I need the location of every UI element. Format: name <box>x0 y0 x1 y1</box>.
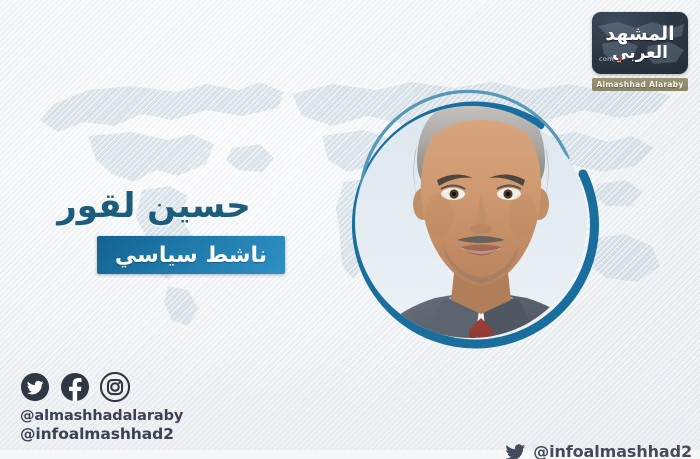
channel-logo[interactable]: المشهد العربي com Almashhad Alaraby <box>592 12 688 91</box>
logo-line-1: المشهد <box>605 25 674 44</box>
facebook-icon[interactable] <box>60 372 90 402</box>
logo-caption: Almashhad Alaraby <box>592 78 688 91</box>
social-handle-primary[interactable]: @almashhadalaraby <box>20 407 183 426</box>
person-name: حسين لقور <box>0 186 700 226</box>
social-icons <box>20 372 183 402</box>
logo-red-dot-icon <box>618 57 622 61</box>
logo-box: المشهد العربي com <box>592 12 688 74</box>
person-role-badge: ناشط سياسي <box>97 236 285 274</box>
promo-card: المشهد العربي com Almashhad Alaraby <box>0 0 700 459</box>
social-handle-secondary[interactable]: @infoalmashhad2 <box>20 425 183 445</box>
logo-com-text: com <box>599 55 614 63</box>
instagram-icon[interactable] <box>100 372 130 402</box>
twitter-icon-corner[interactable] <box>505 441 527 459</box>
social-block: @almashhadalaraby @infoalmashhad2 <box>20 372 183 445</box>
twitter-icon[interactable] <box>20 372 50 402</box>
social-corner-block: @infoalmashhad2 <box>505 441 692 459</box>
person-role-label: ناشط سياسي <box>115 243 267 268</box>
social-handle-corner[interactable]: @infoalmashhad2 <box>533 442 692 459</box>
